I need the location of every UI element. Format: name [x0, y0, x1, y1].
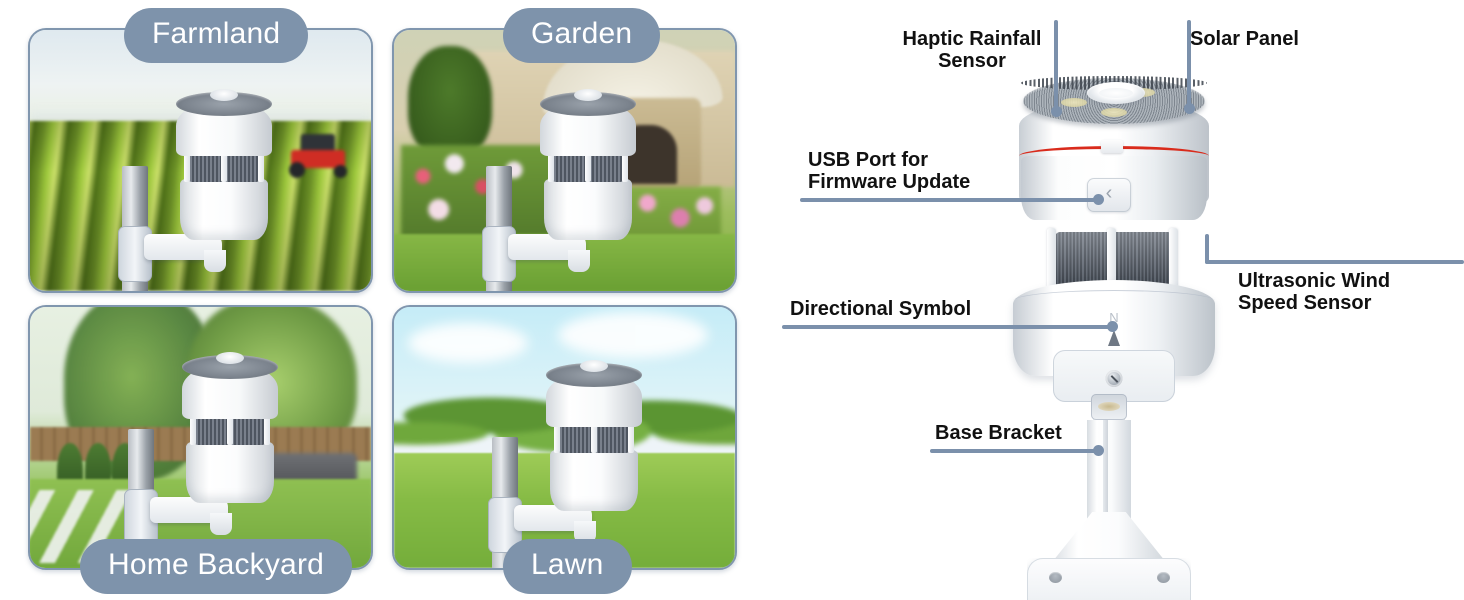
- scenario-card-home-backyard[interactable]: [28, 305, 373, 570]
- mounting-hole: [1049, 572, 1062, 583]
- leader-line-base-bracket: [930, 449, 1098, 453]
- scenario-card-garden[interactable]: [392, 28, 737, 293]
- callout-line-1: Ultrasonic Wind: [1238, 270, 1390, 292]
- callout-line-2: Firmware Update: [808, 171, 970, 193]
- bracket-clip: [1091, 394, 1127, 420]
- callout-line-1: Directional Symbol: [790, 298, 971, 320]
- scenario-badge-lawn: Lawn: [503, 539, 632, 594]
- directional-symbol-arrow-icon: [1108, 330, 1120, 346]
- device-lower-body: [544, 178, 632, 240]
- cloud: [408, 323, 528, 363]
- callout-line-1: USB Port for: [808, 149, 970, 171]
- leader-dot-solar-panel: [1184, 103, 1195, 114]
- leader-dot-usb-port: [1093, 194, 1104, 205]
- scenario-card-lawn[interactable]: [392, 305, 737, 570]
- sensor-post: [1169, 228, 1178, 288]
- scenario-badge-home-backyard: Home Backyard: [80, 539, 352, 594]
- scenario-card-grid: Farmland Garden Home Backyard Lawn: [0, 0, 760, 600]
- base-bracket-flare: [1049, 512, 1169, 566]
- leader-line-haptic-rainfall-sensor: [1054, 20, 1058, 112]
- housing-seam: [1013, 290, 1215, 312]
- callout-line-1: Solar Panel: [1190, 28, 1299, 50]
- sensor-post: [1047, 228, 1056, 288]
- screw-icon: [1106, 370, 1123, 387]
- device-lower-body: [186, 441, 274, 503]
- leader-dot-directional-symbol: [1107, 321, 1118, 332]
- leader-line-directional-symbol: [782, 325, 1112, 329]
- callout-ultrasonic-wind-speed-sensor: Ultrasonic Wind Speed Sensor: [1238, 270, 1390, 315]
- sensor-post: [1107, 228, 1116, 288]
- infographic-canvas: Farmland Garden Home Backyard Lawn N: [0, 0, 1464, 600]
- scene-lawn: [394, 307, 735, 568]
- haptic-rainfall-sensor: [1087, 82, 1145, 104]
- cloud: [558, 312, 708, 358]
- rainfall-sensor-dome: [580, 360, 608, 372]
- callout-haptic-rainfall-sensor: Haptic Rainfall Sensor: [888, 28, 1056, 73]
- callout-directional-symbol: Directional Symbol: [790, 298, 971, 320]
- rainfall-sensor-dome: [210, 89, 238, 101]
- callout-line-1: Base Bracket: [935, 422, 1062, 444]
- callout-solar-panel: Solar Panel: [1190, 28, 1299, 50]
- scene-farmland: [30, 30, 371, 291]
- rainfall-sensor-dome: [216, 352, 244, 364]
- device-lower-body: [180, 178, 268, 240]
- callout-base-bracket: Base Bracket: [935, 422, 1062, 444]
- housing-notch: [1101, 140, 1123, 153]
- callout-line-1: Haptic Rainfall: [888, 28, 1056, 50]
- scene-garden: [394, 30, 735, 291]
- device-lower-body: [550, 449, 638, 511]
- callout-line-2: Sensor: [888, 50, 1056, 72]
- product-parts-diagram: N Haptic Rainfall Sensor Solar Panel: [760, 0, 1464, 600]
- callout-usb-port: USB Port for Firmware Update: [808, 149, 970, 194]
- tractor-icon: [285, 134, 351, 178]
- leader-dot-haptic-rainfall-sensor: [1051, 106, 1062, 117]
- leader-line-usb-port: [800, 198, 1098, 202]
- leader-line-solar-panel: [1187, 20, 1191, 108]
- mounting-hole: [1157, 572, 1170, 583]
- leader-dot-base-bracket: [1093, 445, 1104, 456]
- scenario-badge-garden: Garden: [503, 8, 660, 63]
- scene-home-backyard: [30, 307, 371, 568]
- shrub: [408, 46, 492, 158]
- scenario-card-farmland[interactable]: [28, 28, 373, 293]
- leader-line-ultrasonic-wind-horizontal: [1205, 260, 1464, 264]
- scenario-badge-farmland: Farmland: [124, 8, 308, 63]
- rainfall-sensor-dome: [574, 89, 602, 101]
- callout-line-2: Speed Sensor: [1238, 292, 1390, 314]
